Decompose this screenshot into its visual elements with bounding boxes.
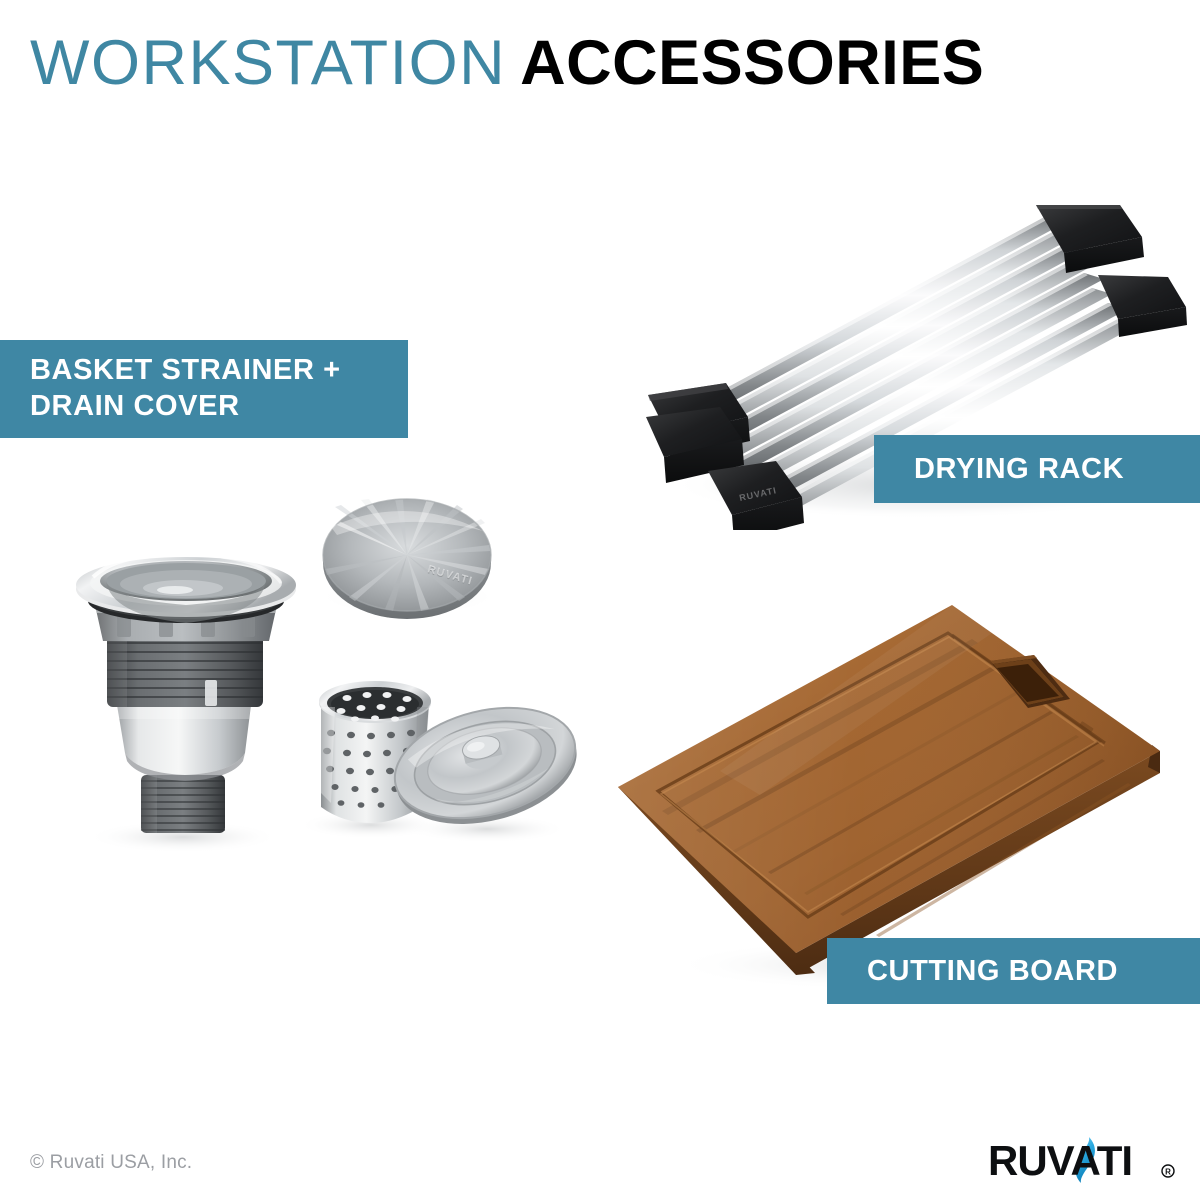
svg-text:R: R bbox=[1165, 1168, 1171, 1177]
drain-body-lower-threads bbox=[141, 775, 225, 833]
page-title-bold: ACCESSORIES bbox=[520, 28, 984, 98]
cutting-board-illustration bbox=[600, 575, 1200, 995]
product-image-basket-strainer: RUVATI RUVATI bbox=[55, 485, 585, 875]
registered-trademark-icon: R bbox=[1162, 1165, 1174, 1177]
badge-drying-rack: DRYING RACK bbox=[874, 435, 1200, 503]
basket-strainer-illustration: RUVATI RUVATI bbox=[55, 485, 585, 875]
badge-basket-strainer-line1: BASKET STRAINER + bbox=[30, 352, 408, 388]
ruvati-logo-svg: RUVATI R bbox=[988, 1133, 1176, 1185]
drain-body-upper-threads bbox=[107, 635, 263, 707]
product-image-cutting-board bbox=[600, 575, 1200, 995]
badge-basket-strainer-line2: DRAIN COVER bbox=[30, 388, 408, 424]
badge-basket-strainer: BASKET STRAINER + DRAIN COVER bbox=[0, 340, 408, 438]
drain-cover-disc: RUVATI RUVATI bbox=[320, 499, 496, 619]
drain-body-assembly bbox=[76, 555, 296, 853]
marketing-image-canvas: WORKSTATIONACCESSORIES bbox=[0, 0, 1200, 1200]
badge-drying-rack-label: DRYING RACK bbox=[914, 453, 1124, 486]
drain-body-barrel bbox=[117, 705, 251, 781]
copyright-notice: © Ruvati USA, Inc. bbox=[30, 1152, 192, 1174]
ruvati-logo-wordmark: RUVATI bbox=[988, 1137, 1132, 1184]
ruvati-logo: RUVATI R bbox=[988, 1133, 1176, 1185]
page-title-light: WORKSTATION bbox=[30, 28, 506, 98]
badge-cutting-board: CUTTING BOARD bbox=[827, 938, 1200, 1004]
page-title: WORKSTATIONACCESSORIES bbox=[30, 32, 984, 95]
badge-cutting-board-label: CUTTING BOARD bbox=[867, 955, 1118, 988]
